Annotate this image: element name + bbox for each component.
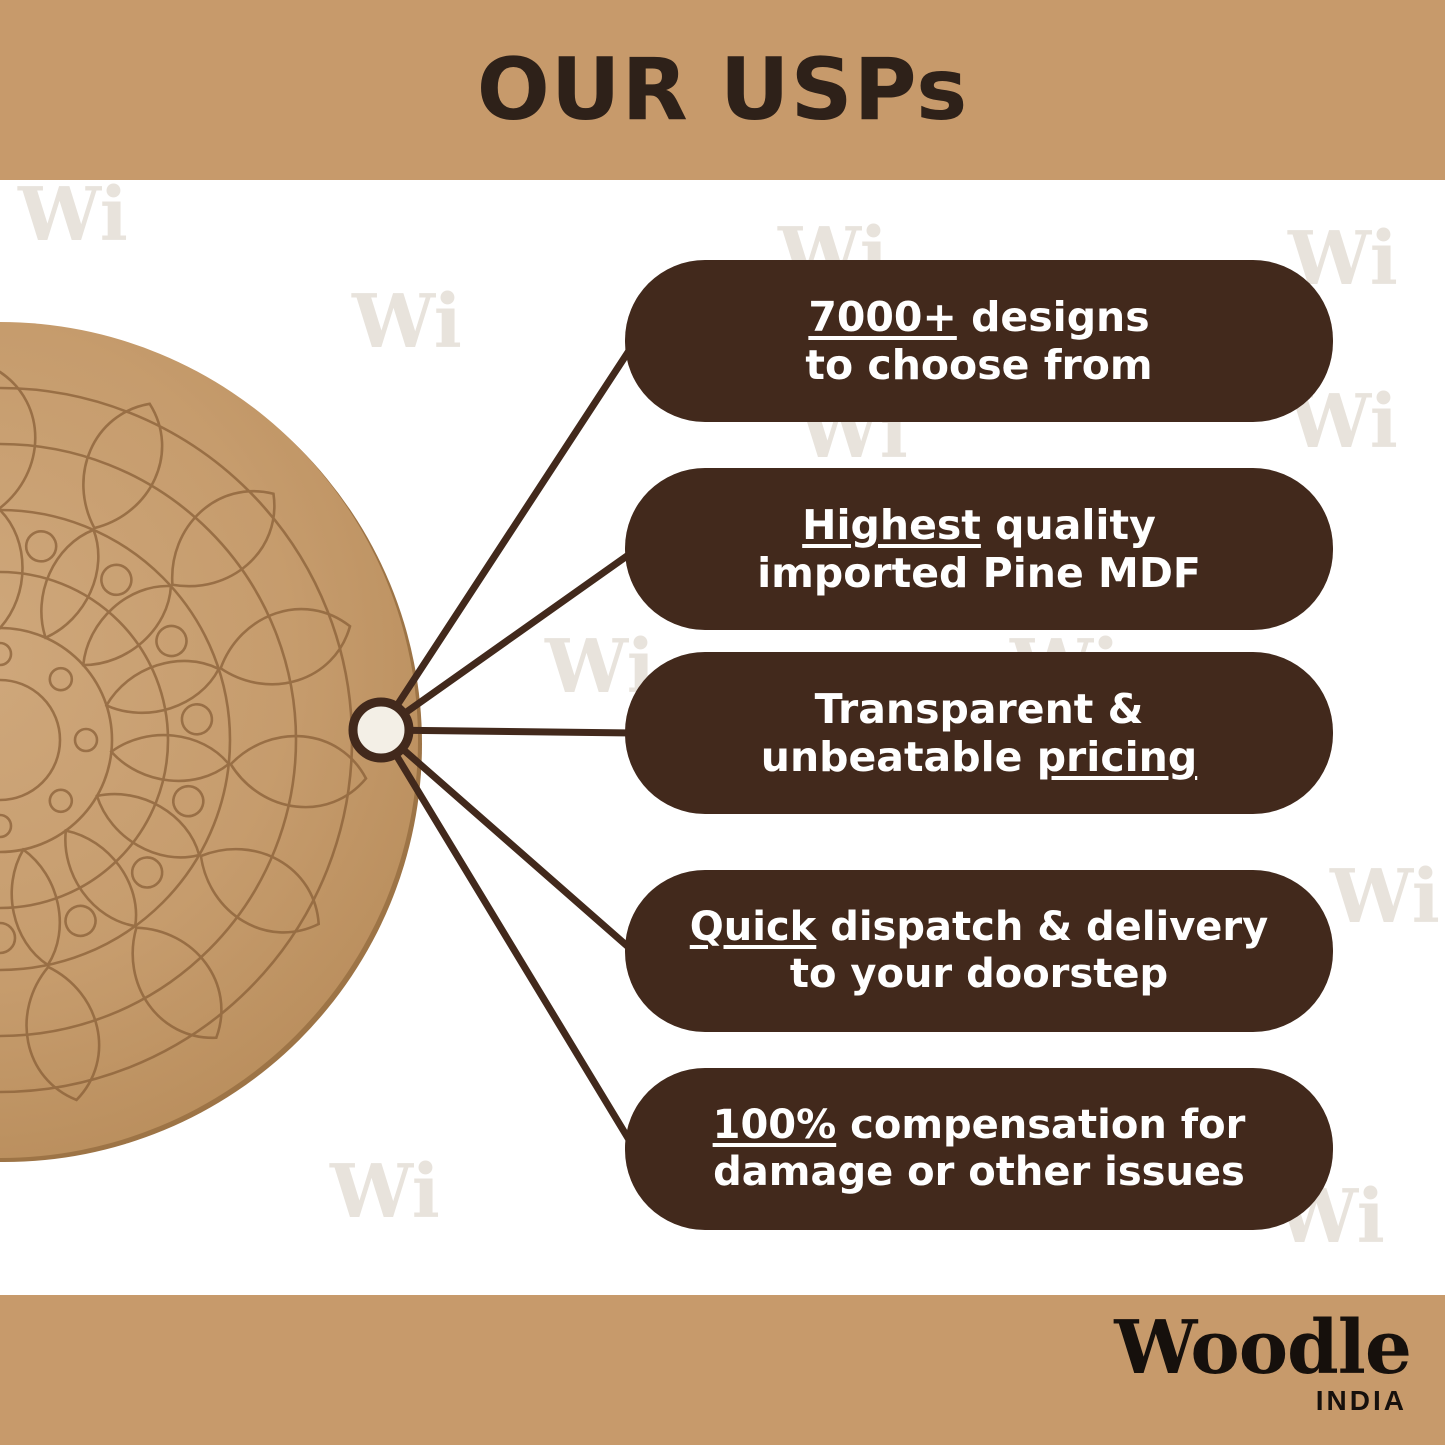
usp-item-quality[interactable]: Highest quality imported Pine MDF	[625, 468, 1333, 630]
header-banner: OUR USPs	[0, 0, 1445, 180]
usp-item-dispatch[interactable]: Quick dispatch & delivery to your doorst…	[625, 870, 1333, 1032]
usp-2-line2: imported Pine MDF	[757, 549, 1201, 597]
hub-node	[353, 702, 409, 758]
diagram-stage: Wi Wi Wi Wi Wi Wi Wi Wi Wi Wi Wi	[0, 180, 1445, 1295]
usp-3-highlight: pricing	[1037, 733, 1198, 781]
brand-name: Woodle	[1114, 1311, 1411, 1385]
usp-3-line1: Transparent &	[815, 685, 1144, 733]
usp-1-line2: to choose from	[805, 341, 1152, 389]
usp-3-line2-pre: unbeatable	[761, 733, 1037, 781]
usp-4-line2: to your doorstep	[790, 951, 1168, 997]
usp-infographic: OUR USPs Wi Wi Wi Wi Wi Wi Wi Wi Wi Wi W…	[0, 0, 1445, 1445]
usp-5-line2: damage or other issues	[713, 1149, 1245, 1195]
usp-1-highlight: 7000+	[808, 293, 956, 341]
usp-2-line1: quality	[981, 501, 1156, 549]
page-title: OUR USPs	[477, 40, 969, 140]
usp-5-line1: compensation for	[836, 1102, 1245, 1148]
brand-subtitle: INDIA	[1114, 1387, 1407, 1415]
footer-banner: Woodle INDIA	[0, 1295, 1445, 1445]
usp-4-highlight: Quick	[690, 904, 817, 950]
usp-4-line1: dispatch & delivery	[816, 904, 1268, 950]
usp-item-compensation[interactable]: 100% compensation for damage or other is…	[625, 1068, 1333, 1230]
usp-5-highlight: 100%	[713, 1102, 837, 1148]
usp-2-highlight: Highest	[802, 501, 981, 549]
usp-item-pricing[interactable]: Transparent & unbeatable pricing	[625, 652, 1333, 814]
usp-item-designs[interactable]: 7000+ designs to choose from	[625, 260, 1333, 422]
brand-logo: Woodle INDIA	[1114, 1311, 1411, 1415]
usp-1-line1: designs	[957, 293, 1150, 341]
